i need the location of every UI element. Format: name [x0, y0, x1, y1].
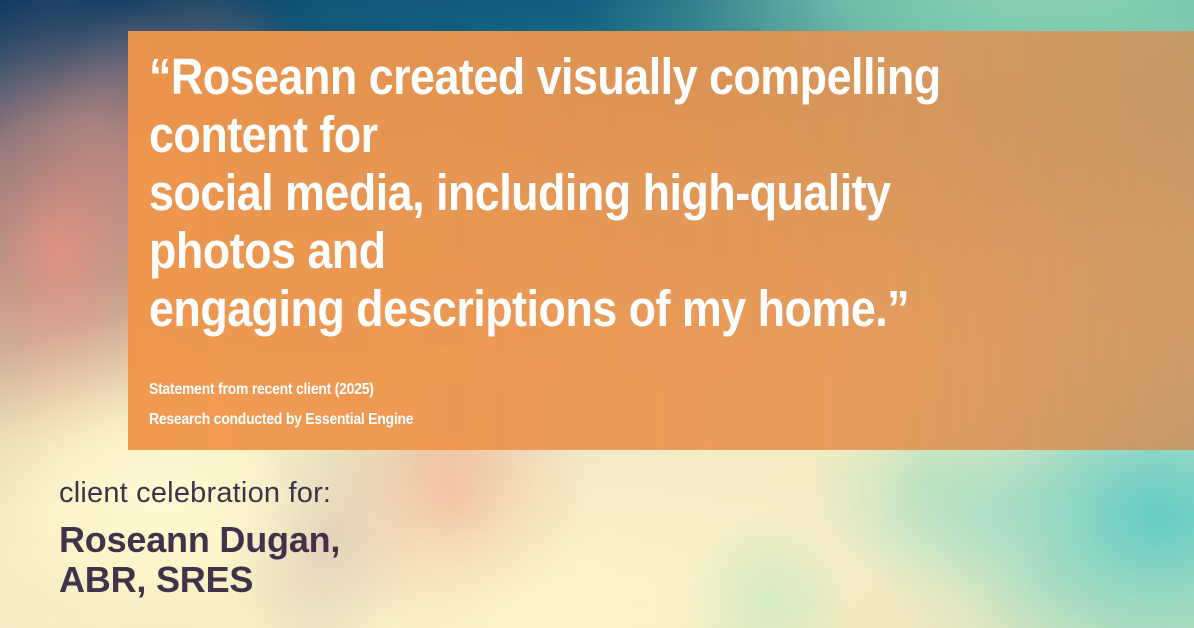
attribution-block: Statement from recent client (2025) Rese…	[149, 375, 849, 435]
celebration-eyebrow: client celebration for:	[59, 474, 759, 512]
attribution-line-statement: Statement from recent client (2025)	[149, 375, 779, 405]
testimonial-card: “Roseann created visually compelling con…	[0, 0, 1194, 628]
agent-block: client celebration for: Roseann Dugan, A…	[59, 474, 759, 600]
agent-name: Roseann Dugan, ABR, SRES	[59, 520, 759, 600]
testimonial-quote: “Roseann created visually compelling con…	[149, 48, 1047, 338]
quote-panel: “Roseann created visually compelling con…	[128, 31, 1194, 450]
attribution-line-research: Research conducted by Essential Engine	[149, 405, 779, 435]
